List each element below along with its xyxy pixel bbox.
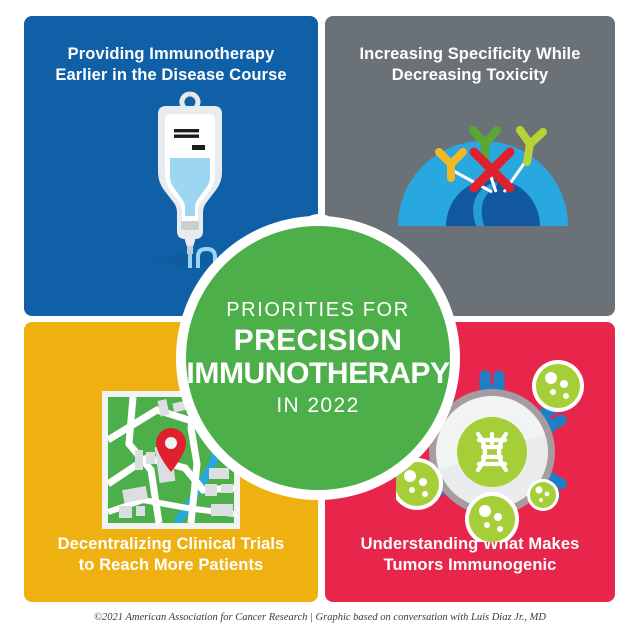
quadrant-bottom-left-title-line1: Decentralizing Clinical Trials [24, 534, 318, 555]
iv-bag-icon [136, 88, 244, 268]
quadrant-top-left-title: Providing Immunotherapy Earlier in the D… [24, 44, 318, 86]
quadrant-top-right-title-line2: Decreasing Toxicity [325, 65, 615, 86]
infographic-canvas: Providing Immunotherapy Earlier in the D… [0, 0, 640, 640]
center-line-1: PRIORITIES FOR [226, 298, 410, 322]
quadrant-top-right-title-line1: Increasing Specificity While [325, 44, 615, 65]
antibody-cell-icon [388, 100, 588, 226]
quadrant-bottom-left-title-line2: to Reach More Patients [24, 555, 318, 576]
center-line-2: PRECISION [234, 324, 403, 357]
green-cell [527, 479, 559, 511]
center-line-4: IN 2022 [276, 393, 359, 419]
quadrant-top-left-title-line2: Earlier in the Disease Course [24, 65, 318, 86]
center-line-3: IMMUNOTHERAPY [186, 357, 449, 390]
center-circle[interactable]: PRIORITIES FOR PRECISION IMMUNOTHERAPY I… [186, 226, 450, 490]
quadrant-bottom-right-title-line2: Tumors Immunogenic [325, 555, 615, 576]
quadrant-top-left-title-line1: Providing Immunotherapy [24, 44, 318, 65]
quadrant-bottom-left-title: Decentralizing Clinical Trials to Reach … [24, 534, 318, 576]
quadrant-top-right-title: Increasing Specificity While Decreasing … [325, 44, 615, 86]
green-cell [532, 360, 584, 412]
footer-credit: ©2021 American Association for Cancer Re… [0, 612, 640, 623]
